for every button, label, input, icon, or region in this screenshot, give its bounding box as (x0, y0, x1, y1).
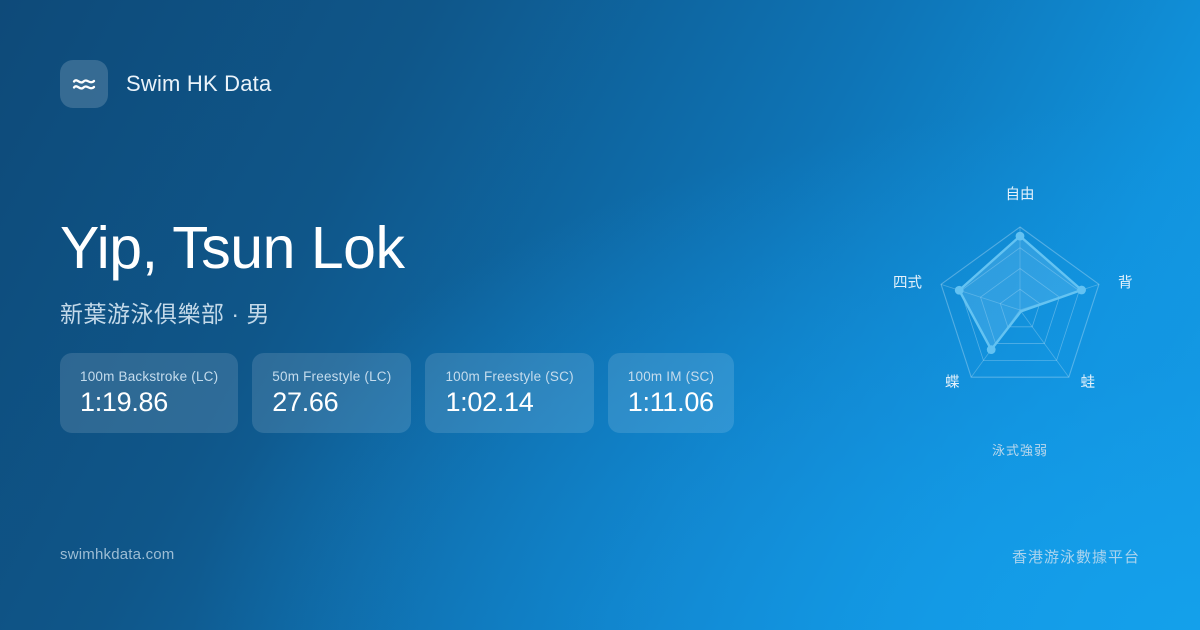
stat-card[interactable]: 100m Backstroke (LC) 1:19.86 (60, 353, 238, 433)
athlete-meta: 新葉游泳俱樂部 · 男 (60, 295, 404, 329)
share-card: Swim HK Data Yip, Tsun Lok 新葉游泳俱樂部 · 男 1… (0, 0, 1200, 630)
brand-name: Swim HK Data (126, 71, 271, 97)
stat-label: 100m Backstroke (LC) (80, 369, 218, 384)
radar-data-point[interactable] (987, 345, 996, 354)
stat-card[interactable]: 50m Freestyle (LC) 27.66 (252, 353, 411, 433)
radar-data-point[interactable] (955, 286, 964, 295)
stat-value: 1:02.14 (445, 389, 573, 416)
personal-best-list: 100m Backstroke (LC) 1:19.86 50m Freesty… (60, 353, 734, 433)
stat-card[interactable]: 100m IM (SC) 1:11.06 (608, 353, 734, 433)
radar-axis-label: 背 (1118, 275, 1133, 292)
footer-site-url: swimhkdata.com (60, 546, 175, 563)
stat-value: 1:19.86 (80, 389, 218, 416)
stat-card[interactable]: 100m Freestyle (SC) 1:02.14 (425, 353, 593, 433)
brand-header: Swim HK Data (60, 60, 271, 108)
radar-data-point[interactable] (1077, 286, 1086, 295)
stat-label: 50m Freestyle (LC) (272, 369, 391, 384)
radar-chart-caption: 泳式強弱 (860, 440, 1180, 459)
athlete-hero: Yip, Tsun Lok 新葉游泳俱樂部 · 男 (60, 218, 404, 329)
stat-label: 100m Freestyle (SC) (445, 369, 573, 384)
wave-icon (60, 60, 108, 108)
radar-axis-label: 自由 (1006, 186, 1035, 203)
stroke-strength-radar-chart: 自由背蛙蝶四式 泳式強弱 (860, 168, 1180, 478)
radar-series-area (959, 236, 1081, 349)
footer-tagline: 香港游泳數據平台 (1012, 546, 1140, 567)
stat-label: 100m IM (SC) (628, 369, 714, 384)
stat-value: 27.66 (272, 389, 391, 416)
radar-data-point[interactable] (1016, 232, 1025, 241)
radar-axis-label: 蛙 (1081, 374, 1096, 391)
radar-axis-label: 四式 (893, 275, 922, 292)
page-title: Yip, Tsun Lok (60, 218, 404, 280)
stat-value: 1:11.06 (628, 389, 714, 416)
radar-axis-label: 蝶 (945, 374, 960, 391)
